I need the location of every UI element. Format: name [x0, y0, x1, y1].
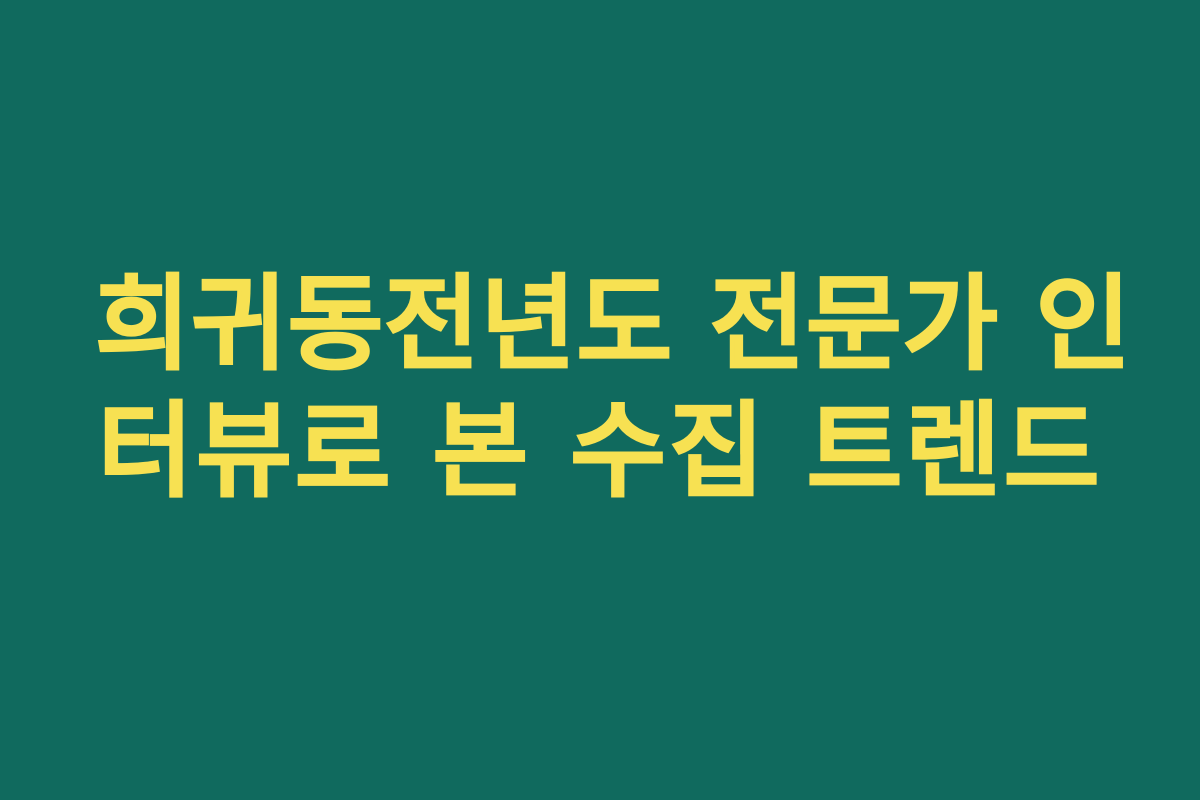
headline-line-2: 터뷰로 본 수집 트렌드: [95, 388, 1105, 515]
headline-line-1: 희귀동전년도 전문가 인: [95, 261, 1105, 388]
headline-block: 희귀동전년도 전문가 인 터뷰로 본 수집 트렌드: [95, 261, 1105, 515]
banner-canvas: 희귀동전년도 전문가 인 터뷰로 본 수집 트렌드: [0, 0, 1200, 800]
